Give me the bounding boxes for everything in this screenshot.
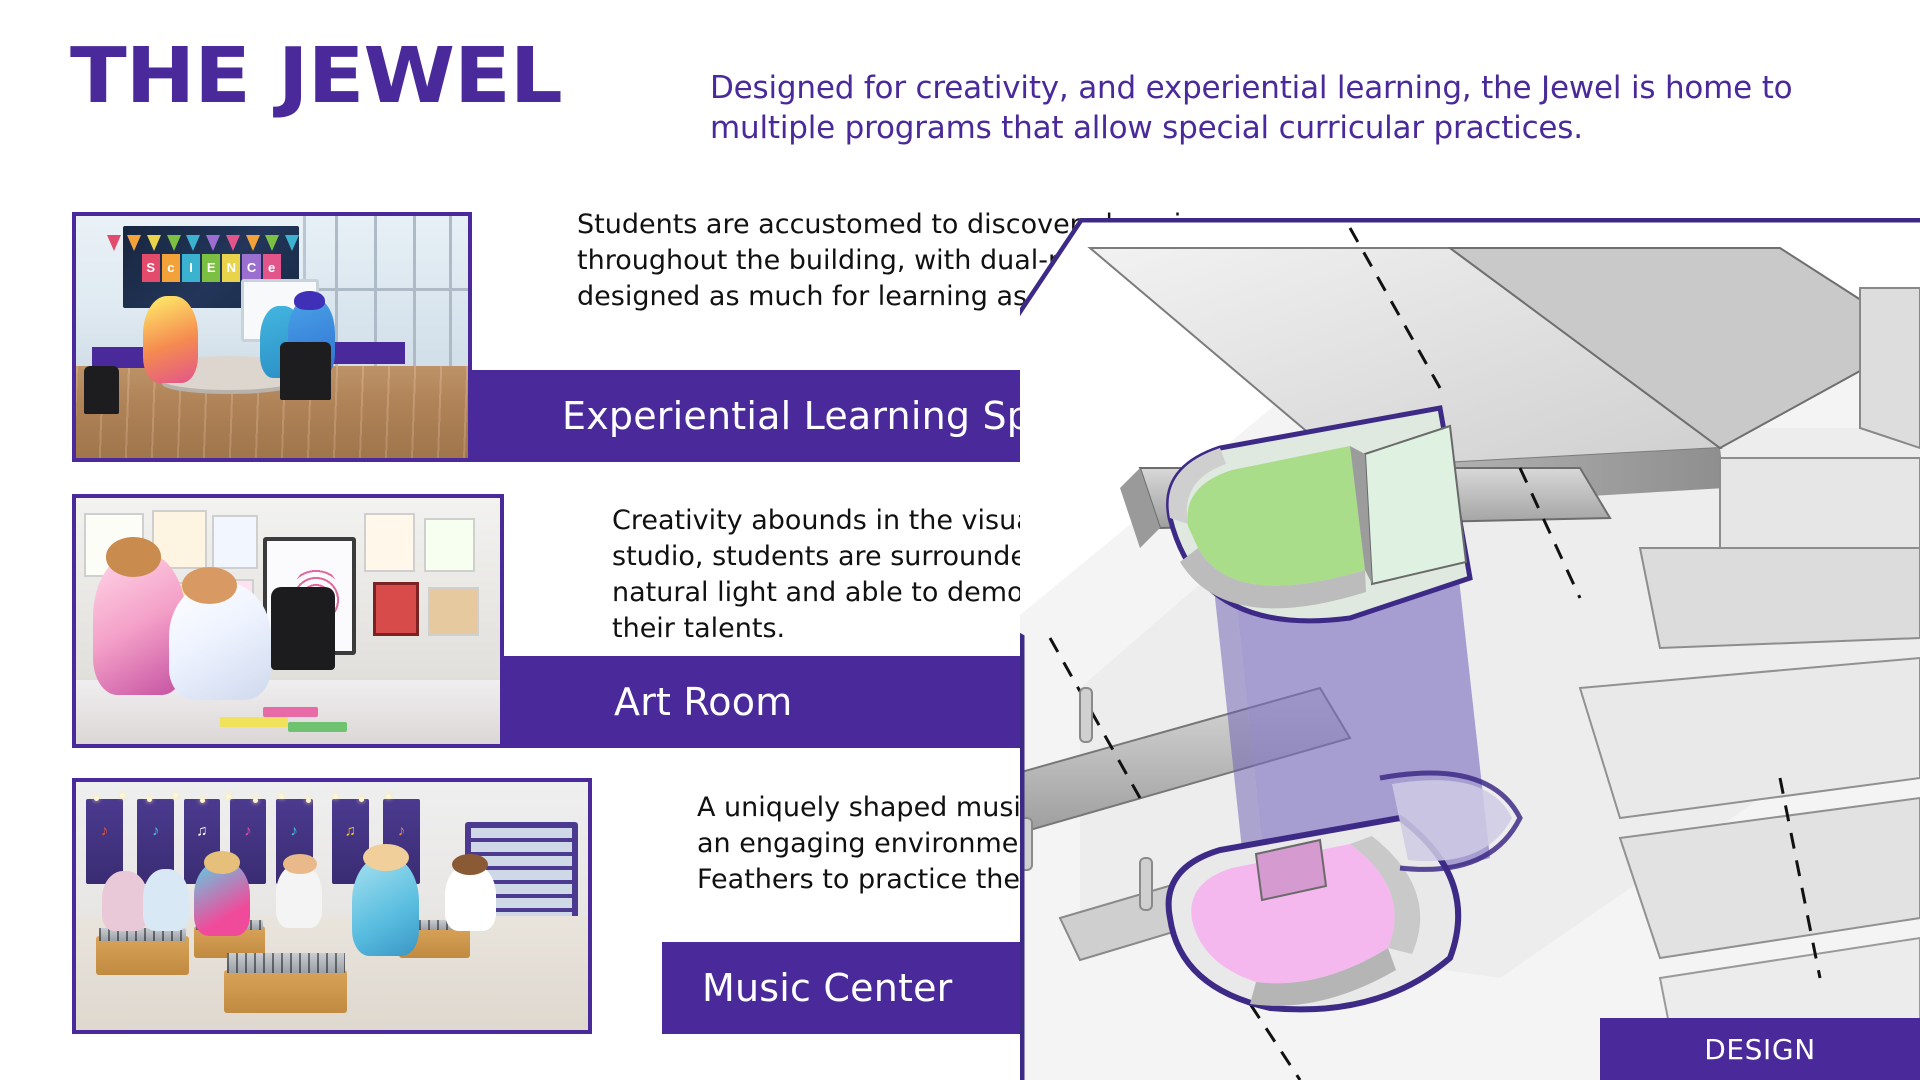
banner-label: Art Room — [614, 680, 792, 724]
page-title: THE JEWEL — [70, 38, 562, 115]
photo-music-center: ♪ ♪ ♫ ♪ ♪ ♫ ♪ — [72, 778, 592, 1034]
design-tab[interactable]: DESIGN — [1600, 1018, 1920, 1080]
poster-canvas: THE JEWEL Designed for creativity, and e… — [0, 0, 1920, 1080]
header: THE JEWEL Designed for creativity, and e… — [0, 0, 1920, 175]
photo-art-studio — [76, 498, 500, 744]
plan-body — [1020, 218, 1920, 1080]
photo-music-room: ♪ ♪ ♫ ♪ ♪ ♫ ♪ — [76, 782, 588, 1030]
photo-art-room — [72, 494, 504, 748]
photo-art-classroom-science: ScI ENCe — [76, 216, 468, 458]
card-art-room: Creativity abounds in the visual arts st… — [72, 494, 1132, 748]
floor-plan-3d-diagram — [1020, 218, 1920, 1080]
design-tab-label: DESIGN — [1704, 1033, 1816, 1066]
banner-label: Music Center — [702, 966, 953, 1010]
page-subtitle: Designed for creativity, and experientia… — [710, 68, 1870, 149]
photo-experiential-learning-spaces: ScI ENCe — [72, 212, 472, 462]
card-experiential-learning-spaces: ScI ENCe — [72, 212, 1132, 462]
card-music-center: ♪ ♪ ♫ ♪ ♪ ♫ ♪ — [72, 778, 1132, 1034]
